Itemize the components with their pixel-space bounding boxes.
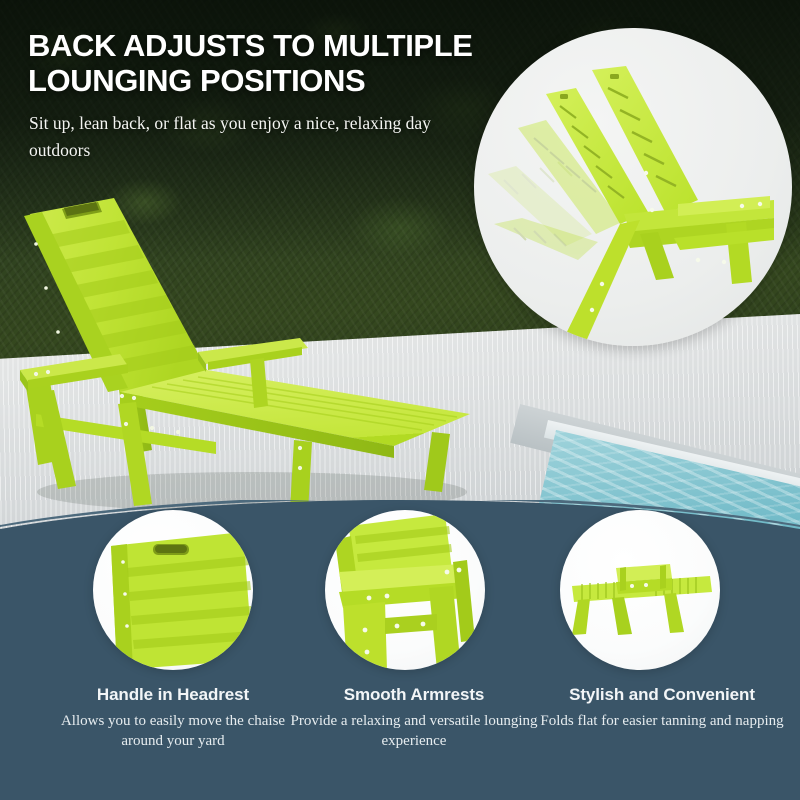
feature-caption-1: Handle in Headrest Allows you to easily … — [48, 685, 298, 752]
page-subheadline: Sit up, lean back, or flat as you enjoy … — [29, 110, 469, 164]
headrest-handle-icon — [93, 510, 253, 670]
feature-description-3: Folds flat for easier tanning and nappin… — [537, 711, 787, 731]
backrest-positions-inset — [474, 28, 792, 346]
page-headline: BACK ADJUSTS TO MULTIPLE LOUNGING POSITI… — [28, 28, 498, 99]
backrest-position-fan — [474, 28, 792, 346]
feature-title-3: Stylish and Convenient — [537, 685, 787, 705]
feature-caption-3: Stylish and Convenient Folds flat for ea… — [537, 685, 787, 731]
feature-circle-2 — [325, 510, 485, 670]
feature-circle-1 — [93, 510, 253, 670]
leg-far-right — [424, 432, 450, 492]
feature-description-1: Allows you to easily move the chaise aro… — [48, 711, 298, 752]
feature-description-2: Provide a relaxing and versatile loungin… — [289, 711, 539, 752]
feature-title-1: Handle in Headrest — [48, 685, 298, 705]
armrest-icon — [325, 510, 485, 670]
feature-caption-2: Smooth Armrests Provide a relaxing and v… — [289, 685, 539, 752]
feature-title-2: Smooth Armrests — [289, 685, 539, 705]
feature-circle-3 — [560, 510, 720, 670]
folded-flat-chaise-icon — [560, 510, 720, 670]
product-feature-graphic: BACK ADJUSTS TO MULTIPLE LOUNGING POSITI… — [0, 0, 800, 800]
